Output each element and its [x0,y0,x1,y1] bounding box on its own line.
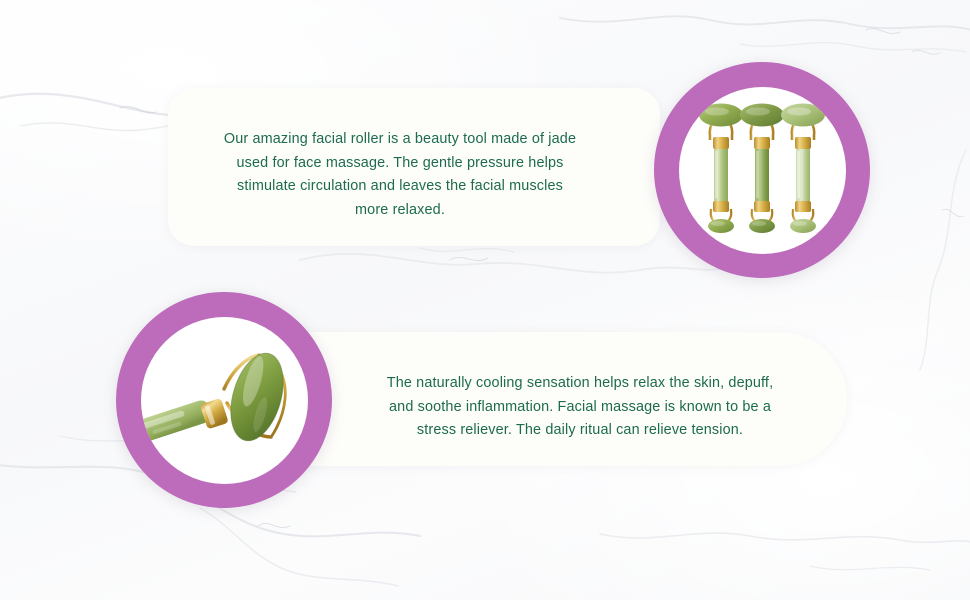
three-jade-rollers-icon [679,87,846,254]
infographic-canvas: Our amazing facial roller is a beauty to… [0,0,970,600]
jade-roller-3 [781,103,825,233]
single-jade-roller-icon [141,317,308,484]
jade-roller-stone [221,347,292,447]
badge-single-roller [116,292,332,508]
jade-roller-1 [699,103,743,233]
badge-three-rollers-photo [679,87,846,254]
info-card-top-text: Our amazing facial roller is a beauty to… [196,128,604,222]
info-card-bottom-text: The naturally cooling sensation helps re… [372,372,788,443]
badge-three-rollers [654,62,870,278]
badge-single-roller-photo [141,317,308,484]
jade-roller-2 [740,103,784,233]
